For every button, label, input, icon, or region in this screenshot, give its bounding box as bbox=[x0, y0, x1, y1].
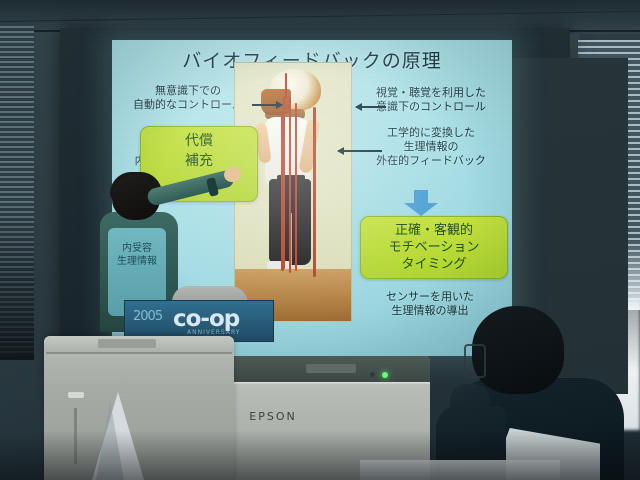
photo-signal-line-2 bbox=[289, 97, 291, 273]
slide-text-unconscious-control: 無意識下での 自動的なコントロール bbox=[124, 84, 252, 112]
glasses-icon bbox=[464, 344, 486, 378]
presenter-vest-text: 内受容 生理情報 bbox=[110, 242, 164, 268]
projector-vent bbox=[306, 364, 356, 373]
photo-signal-line-1 bbox=[283, 97, 285, 269]
projector-brand-label: EPSON bbox=[228, 410, 318, 423]
coop-sub-label: ANNIVERSARY bbox=[187, 329, 240, 336]
printer-seam bbox=[46, 352, 232, 354]
slide-text-external-feedback: 工学的に変換した 生理情報の 外在的フィードバック bbox=[352, 126, 510, 168]
arrow-right-to-head bbox=[356, 106, 386, 108]
photo-scene: バイオフィードバックの原理 無意識下での 自動的なコントロール 生理情報の 内在… bbox=[0, 0, 640, 480]
projector-power-led bbox=[382, 372, 388, 378]
photo-pole-right bbox=[313, 107, 316, 277]
printer-button[interactable] bbox=[68, 392, 84, 398]
paper-cone-shadow bbox=[96, 400, 124, 480]
coop-year-label: 2005 bbox=[133, 309, 162, 324]
printer-panel-gap bbox=[74, 408, 77, 464]
slide-text-conscious-control: 視覚・聴覚を利用した 意識下のコントロール bbox=[352, 86, 510, 114]
arrow-left-to-head bbox=[252, 104, 282, 106]
table-edge bbox=[360, 460, 560, 480]
window-blinds-left-shadow bbox=[0, 200, 34, 360]
projector-led-off bbox=[370, 372, 375, 377]
photo-signal-arrow-up bbox=[285, 73, 287, 99]
blue-arrow-shaft bbox=[414, 190, 428, 204]
seated-audience-member bbox=[436, 300, 640, 480]
blue-down-arrow-icon bbox=[404, 190, 438, 216]
blue-arrow-head bbox=[404, 203, 438, 216]
printer-paper-slot bbox=[98, 339, 156, 348]
photo-signal-line-3 bbox=[295, 103, 297, 271]
slide-box-accuracy-motivation: 正確・客観的 モチベーション タイミング bbox=[360, 216, 508, 279]
arrow-right-to-body bbox=[338, 150, 382, 152]
